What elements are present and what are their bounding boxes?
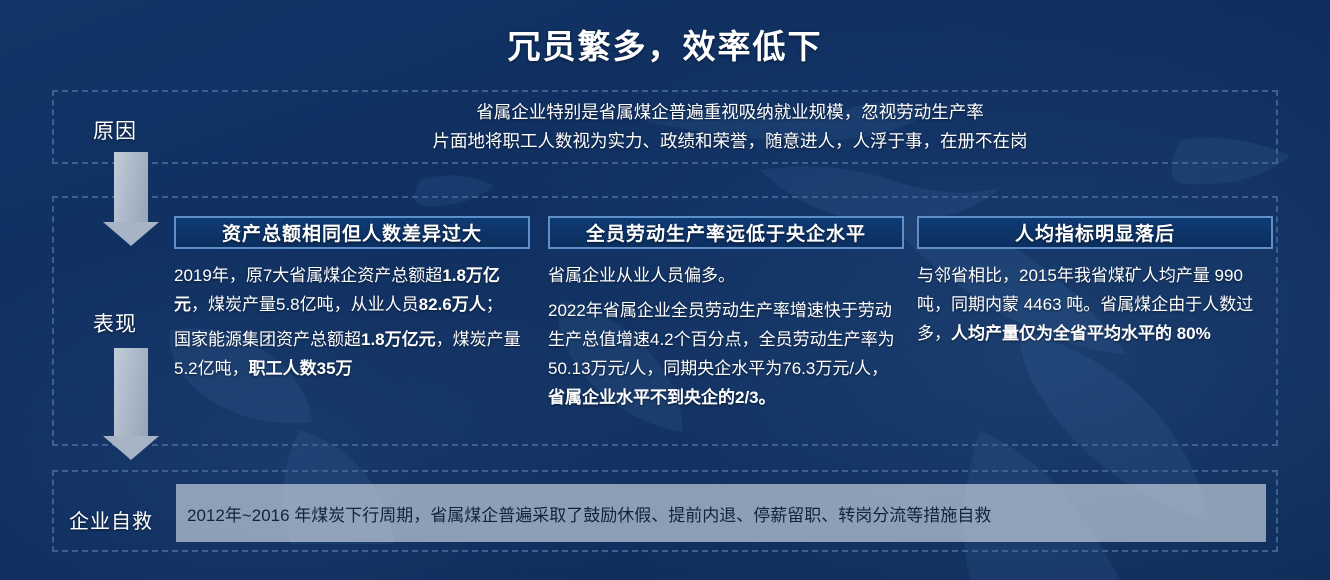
column-body-1: 2019年，原7大省属煤企资产总额超1.8万亿元，煤炭产量5.8亿吨，从业人员8… <box>174 261 530 383</box>
paragraph: 与邻省相比，2015年我省煤矿人均产量 990吨，同期内蒙 4463 吨。省属煤… <box>917 261 1273 348</box>
rail-label-manifestation: 表现 <box>52 308 178 338</box>
slide-canvas: 冗员繁多，效率低下 原因 表现 企业自救 省属企业特别是省属煤企普遍重视吸纳就业… <box>0 0 1330 580</box>
manifestation-column-2: 全员劳动生产率远低于央企水平 省属企业从业人员偏多。2022年省属企业全员劳动生… <box>548 216 904 418</box>
rail-label-rescue: 企业自救 <box>48 505 174 534</box>
rescue-panel: 2012年~2016 年煤炭下行周期，省属煤企普遍采取了鼓励休假、提前内退、停薪… <box>176 484 1266 542</box>
down-arrow-icon-2 <box>103 348 159 436</box>
cause-line-1: 省属企业特别是省属煤企普遍重视吸纳就业规模，忽视劳动生产率 <box>190 98 1270 127</box>
column-body-3: 与邻省相比，2015年我省煤矿人均产量 990吨，同期内蒙 4463 吨。省属煤… <box>917 261 1273 348</box>
manifestation-column-1: 资产总额相同但人数差异过大 2019年，原7大省属煤企资产总额超1.8万亿元，煤… <box>174 216 530 389</box>
down-arrow-icon-1 <box>103 152 159 222</box>
column-title-2: 全员劳动生产率远低于央企水平 <box>548 216 904 249</box>
column-body-2: 省属企业从业人员偏多。2022年省属企业全员劳动生产率增速快于劳动生产总值增速4… <box>548 261 904 412</box>
paragraph: 2022年省属企业全员劳动生产率增速快于劳动生产总值增速4.2个百分点，全员劳动… <box>548 296 904 412</box>
paragraph: 国家能源集团资产总额超1.8万亿元，煤炭产量5.2亿吨，职工人数35万 <box>174 325 530 383</box>
rail-label-cause: 原因 <box>52 115 178 145</box>
page-title: 冗员繁多，效率低下 <box>0 20 1330 68</box>
column-title-3: 人均指标明显落后 <box>917 216 1273 249</box>
cause-text-block: 省属企业特别是省属煤企普遍重视吸纳就业规模，忽视劳动生产率 片面地将职工人数视为… <box>190 98 1270 156</box>
column-title-1: 资产总额相同但人数差异过大 <box>174 216 530 249</box>
cause-line-2: 片面地将职工人数视为实力、政绩和荣誉，随意进人，人浮于事，在册不在岗 <box>190 127 1270 156</box>
manifestation-column-3: 人均指标明显落后 与邻省相比，2015年我省煤矿人均产量 990吨，同期内蒙 4… <box>917 216 1273 354</box>
paragraph: 2019年，原7大省属煤企资产总额超1.8万亿元，煤炭产量5.8亿吨，从业人员8… <box>174 261 530 319</box>
rescue-text: 2012年~2016 年煤炭下行周期，省属煤企普遍采取了鼓励休假、提前内退、停薪… <box>187 501 991 526</box>
paragraph: 省属企业从业人员偏多。 <box>548 261 904 290</box>
